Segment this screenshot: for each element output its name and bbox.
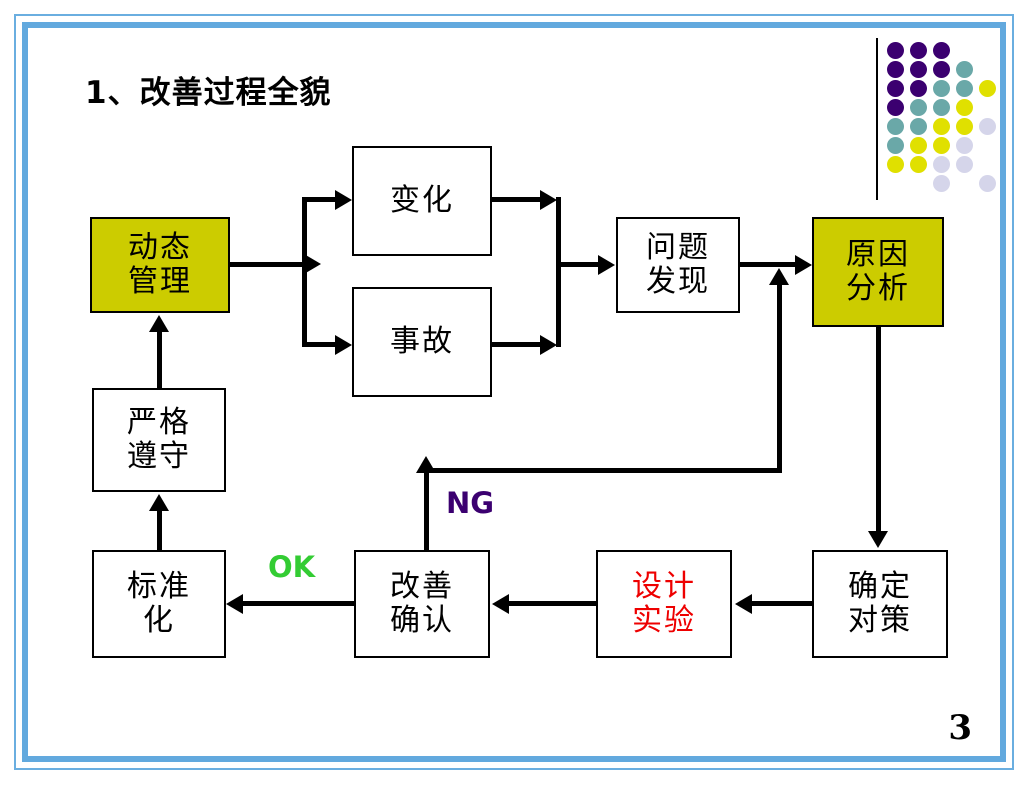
edge-merge-to-problem-line [556, 262, 600, 267]
decorative-dot [887, 137, 904, 154]
flow-node-label: 改善 [390, 570, 454, 604]
edge-accident-to-merge-line [492, 342, 540, 347]
decorative-dot [887, 156, 904, 173]
decorative-dot [979, 118, 996, 135]
flow-node-problem-discovery[interactable]: 问题发现 [616, 217, 740, 313]
flow-node-dynamic-management[interactable]: 动态管理 [90, 217, 230, 313]
edge-split-to-change-line [302, 197, 335, 202]
flow-node-label: 问题 [646, 231, 710, 265]
flow-node-label: 标准 [127, 570, 191, 604]
flow-node-label: 动态 [128, 231, 192, 265]
flow-node-label: 分析 [846, 272, 910, 306]
decorative-dot [933, 80, 950, 97]
edge-ng-segment-up-right [777, 283, 782, 469]
edge-cause-to-confirm-arrowhead [868, 531, 888, 548]
edge-design-to-improvement-line [508, 601, 596, 606]
flow-node-label: 确认 [390, 604, 454, 638]
decorative-dots-graphic [876, 38, 994, 198]
decorative-dot [910, 99, 927, 116]
edge-ng-segment-horizontal [424, 468, 782, 473]
edge-split-to-accident-line [302, 342, 335, 347]
decorative-dot [933, 118, 950, 135]
edge-dynamic-to-split-line [230, 262, 304, 267]
page-title: 1、改善过程全貌 [85, 67, 332, 112]
merge-bar [556, 197, 561, 347]
flow-node-label: 实验 [632, 604, 696, 638]
decorative-dot [933, 99, 950, 116]
flow-node-label: 事故 [390, 325, 454, 359]
flow-node-label: 对策 [848, 604, 912, 638]
flow-node-standardization[interactable]: 标准化 [92, 550, 226, 658]
edge-confirm-to-design-arrowhead [735, 594, 752, 614]
decorative-dot [956, 99, 973, 116]
edge-confirm-to-design-line [752, 601, 812, 606]
split-bar [302, 197, 307, 347]
flow-node-label: 化 [143, 604, 175, 638]
edge-standard-to-strict-arrowhead [149, 494, 169, 511]
flow-node-label: 发现 [646, 265, 710, 299]
edge-standard-to-strict-line [157, 510, 162, 550]
decorative-dot [910, 137, 927, 154]
edge-accident-to-merge-arrowhead [540, 335, 557, 355]
decorative-dot [956, 61, 973, 78]
decorative-dot [956, 118, 973, 135]
decorative-dot [979, 175, 996, 192]
edge-cause-to-confirm-line [876, 327, 881, 531]
flow-node-change[interactable]: 变化 [352, 146, 492, 256]
edge-ng-arrowhead-right [769, 268, 789, 285]
decorative-dot [956, 137, 973, 154]
flow-node-confirm-measures[interactable]: 确定对策 [812, 550, 948, 658]
decorative-dot [887, 80, 904, 97]
flow-node-strict-compliance[interactable]: 严格遵守 [92, 388, 226, 492]
flow-node-label: 遵守 [127, 440, 191, 474]
decorative-dot [933, 156, 950, 173]
edge-problem-to-cause-line [740, 262, 796, 267]
flow-node-accident[interactable]: 事故 [352, 287, 492, 397]
edge-split-to-change-arrowhead [335, 190, 352, 210]
edge-improvement-to-standard-line [243, 601, 354, 606]
ng-label: NG [446, 486, 494, 520]
decorative-dot [933, 42, 950, 59]
flow-node-improvement-check[interactable]: 改善确认 [354, 550, 490, 658]
page-number: 3 [948, 708, 972, 748]
flow-node-label: 严格 [127, 406, 191, 440]
ok-label: OK [268, 550, 315, 584]
decorative-dot [887, 99, 904, 116]
edge-change-to-merge-arrowhead [540, 190, 557, 210]
edge-ng-segment-up-left [424, 470, 429, 552]
edge-merge-to-problem-arrowhead [598, 255, 615, 275]
edge-improvement-to-standard-arrowhead [226, 594, 243, 614]
decorative-dot [956, 156, 973, 173]
decorative-dot [887, 42, 904, 59]
edge-split-to-accident-arrowhead [335, 335, 352, 355]
flow-node-label: 变化 [390, 184, 454, 218]
decorative-dot [933, 175, 950, 192]
decorative-dot [956, 80, 973, 97]
edge-strict-to-dynamic-arrowhead [149, 315, 169, 332]
decorative-dot [910, 80, 927, 97]
decorative-dot [887, 118, 904, 135]
flow-node-cause-analysis[interactable]: 原因分析 [812, 217, 944, 327]
flow-node-label: 确定 [848, 570, 912, 604]
decorative-dot [910, 61, 927, 78]
slide-canvas: 1、改善过程全貌 动态管理变化事故问题发现原因分析严格遵守标准化改善确认设计实验… [0, 0, 1030, 790]
edge-problem-to-cause-arrowhead [795, 255, 812, 275]
decorative-dot [979, 80, 996, 97]
decorative-dot [933, 137, 950, 154]
decorative-dot [933, 61, 950, 78]
decorative-dot [910, 156, 927, 173]
edge-change-to-merge-line [492, 197, 540, 202]
edge-design-to-improvement-arrowhead [492, 594, 509, 614]
flow-node-label: 管理 [128, 265, 192, 299]
decorative-dot [910, 118, 927, 135]
flow-node-label: 设计 [632, 570, 696, 604]
flow-node-label: 原因 [846, 238, 910, 272]
decorative-dot [887, 61, 904, 78]
flow-node-design-experiment[interactable]: 设计实验 [596, 550, 732, 658]
decorative-dot [910, 42, 927, 59]
edge-strict-to-dynamic-line [157, 331, 162, 388]
